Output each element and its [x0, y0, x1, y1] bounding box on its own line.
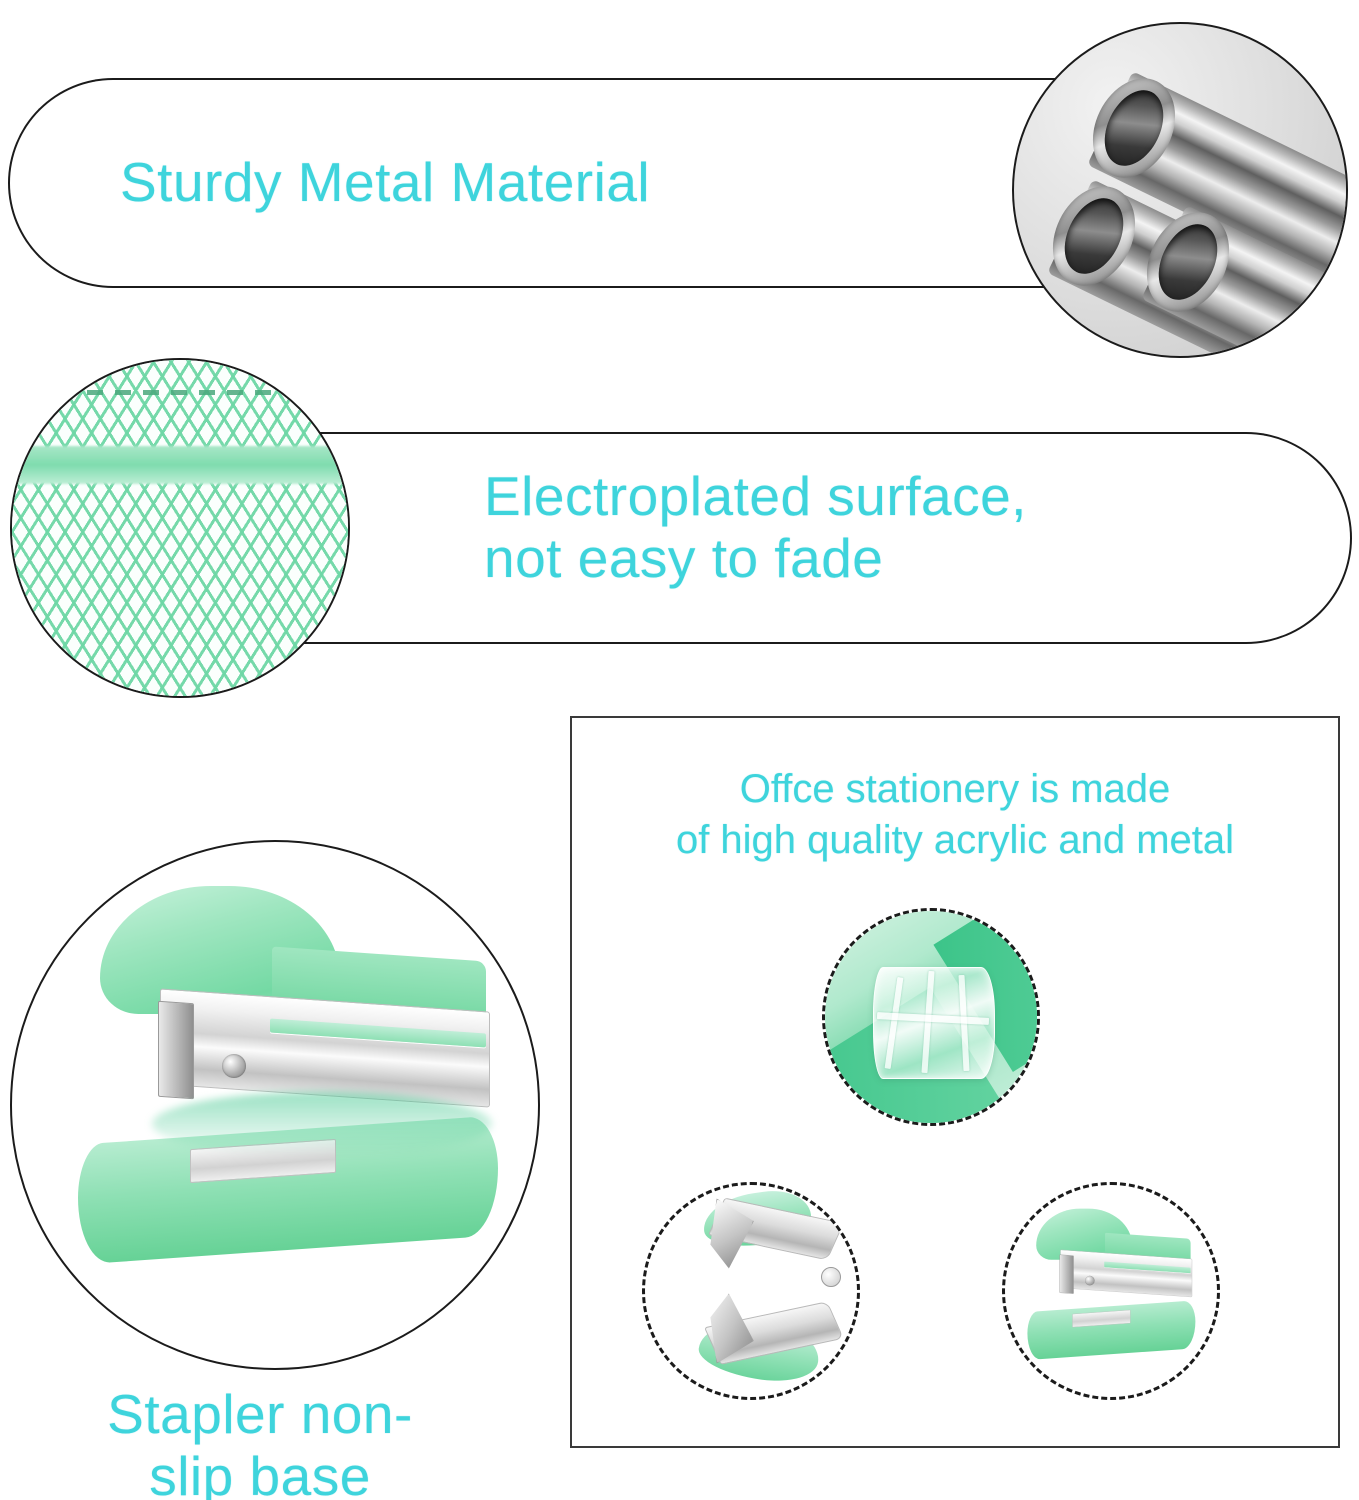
staple-remover-pivot	[821, 1267, 841, 1287]
mini-stapler-hinge	[1059, 1254, 1073, 1293]
mesh-weave-pattern	[10, 358, 350, 698]
stainless-steel-tubes-photo	[1012, 22, 1348, 358]
feature-2-label: Electroplated surface, not easy to fade	[484, 466, 1027, 589]
mini-stapler-pivot-pin	[1085, 1276, 1095, 1286]
materials-panel: Offce stationery is made of high quality…	[570, 716, 1340, 1448]
green-mesh-texture-photo	[10, 358, 350, 698]
stapler-illustration	[12, 842, 538, 1368]
mint-stapler-photo	[10, 840, 540, 1370]
mesh-rim-band	[10, 446, 350, 484]
stapler-base-shadow	[152, 1092, 492, 1156]
feature-1-label: Sturdy Metal Material	[120, 152, 650, 214]
mini-stapler-base	[1027, 1300, 1195, 1360]
stapler-hinge	[158, 1001, 194, 1100]
mint-stapler-photo-small	[1002, 1182, 1220, 1400]
product-infographic: Sturdy Metal Material Electroplated surf…	[0, 0, 1359, 1500]
feature-3-label: Stapler non- slip base	[50, 1384, 470, 1500]
mini-stapler-illustration	[1002, 1191, 1213, 1400]
materials-panel-heading: Offce stationery is made of high quality…	[572, 764, 1338, 866]
stapler-pivot-pin	[222, 1054, 246, 1078]
mini-stapler-metal-channel	[1060, 1250, 1192, 1298]
staple-remover-photo	[642, 1182, 860, 1400]
acrylic-tape-dispenser-photo	[822, 908, 1040, 1126]
mesh-top-dash-line	[59, 390, 308, 395]
